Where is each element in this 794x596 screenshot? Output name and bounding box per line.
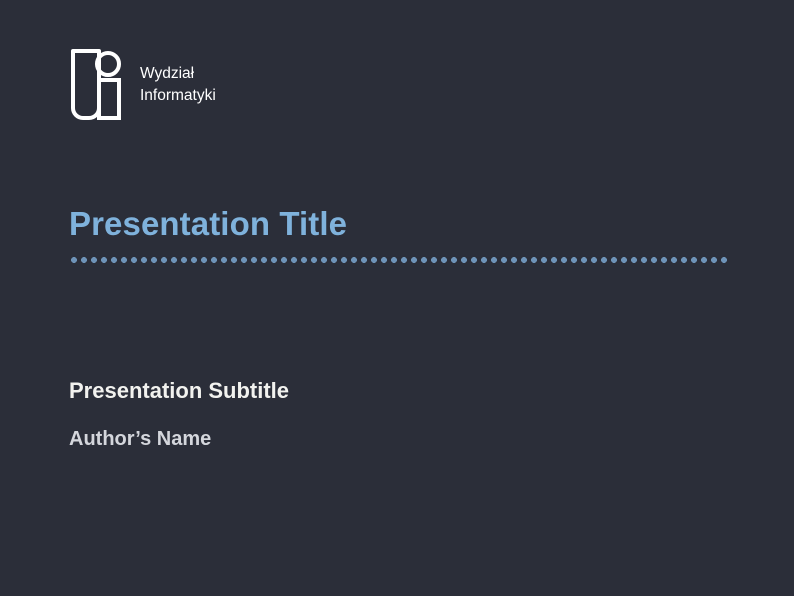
presentation-subtitle: Presentation Subtitle bbox=[69, 378, 289, 404]
wydzial-informatyki-logo-icon bbox=[69, 48, 125, 122]
presentation-title-slide: Wydział Informatyki Presentation Title P… bbox=[0, 0, 794, 596]
logo-wordmark-line-1: Wydział bbox=[140, 63, 216, 85]
logo-block: Wydział Informatyki bbox=[69, 48, 216, 122]
logo-wordmark: Wydział Informatyki bbox=[140, 63, 216, 108]
logo-wordmark-line-2: Informatyki bbox=[140, 85, 216, 107]
author-name: Author’s Name bbox=[69, 428, 211, 451]
presentation-title: Presentation Title bbox=[69, 205, 347, 243]
dotted-divider bbox=[69, 257, 731, 263]
